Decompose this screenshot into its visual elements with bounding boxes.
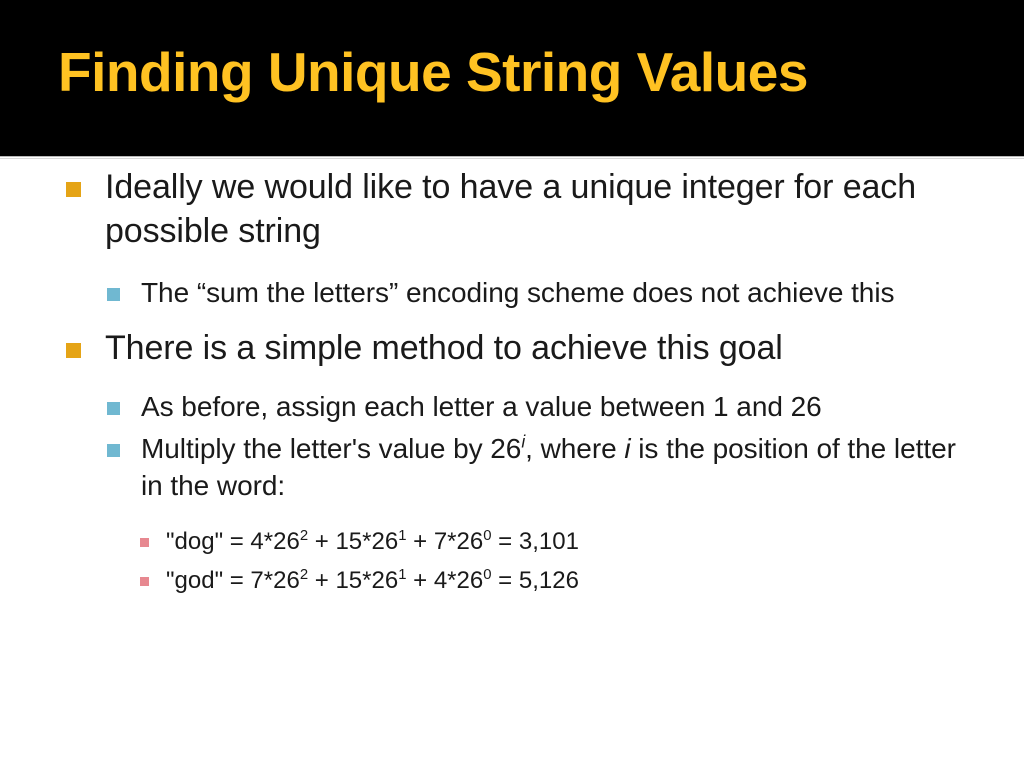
- dog-mid2: + 7*26: [406, 528, 483, 555]
- bullet-level2-text: The “sum the letters” encoding scheme do…: [141, 275, 970, 311]
- dog-superscript-2: 2: [300, 528, 308, 544]
- slide-title: Finding Unique String Values: [58, 44, 808, 102]
- bullet-level2-item: As before, assign each letter a value be…: [107, 389, 970, 425]
- bullet-square-icon: [107, 444, 120, 457]
- bullet-level3-item: "god" = 7*262 + 15*261 + 4*260 = 5,126: [140, 565, 970, 596]
- title-divider: [0, 156, 1024, 159]
- bullet-level3-text-god: "god" = 7*262 + 15*261 + 4*260 = 5,126: [166, 565, 970, 596]
- god-superscript-0: 0: [483, 567, 491, 583]
- bullet-level2-item: The “sum the letters” encoding scheme do…: [107, 275, 970, 311]
- bullet-square-icon: [107, 288, 120, 301]
- slide: Finding Unique String Values Ideally we …: [0, 0, 1024, 768]
- bullet-level2-item: Multiply the letter's value by 26i, wher…: [107, 431, 970, 504]
- dog-lead: "dog" = 4*26: [166, 528, 300, 555]
- bullet-level1-item: There is a simple method to achieve this…: [66, 327, 970, 371]
- bullet-square-icon: [107, 402, 120, 415]
- bullet-level2-text: As before, assign each letter a value be…: [141, 389, 970, 425]
- god-lead: "god" = 7*26: [166, 567, 300, 594]
- bullet-level2-text-formula: Multiply the letter's value by 26i, wher…: [141, 431, 970, 504]
- formula-part1: Multiply the letter's value by 26: [141, 433, 521, 464]
- spacer: [0, 313, 1024, 327]
- bullet-level1-text: There is a simple method to achieve this…: [105, 327, 970, 371]
- dog-superscript-0: 0: [483, 528, 491, 544]
- bullet-square-icon: [140, 538, 149, 547]
- dog-tail: = 3,101: [492, 528, 579, 555]
- spacer: [0, 373, 1024, 383]
- bullet-level3-item: "dog" = 4*262 + 15*261 + 7*260 = 3,101: [140, 526, 970, 557]
- spacer: [0, 506, 1024, 518]
- bullet-level3-text-dog: "dog" = 4*262 + 15*261 + 7*260 = 3,101: [166, 526, 970, 557]
- god-tail: = 5,126: [492, 567, 579, 594]
- bullet-square-icon: [140, 577, 149, 586]
- bullet-square-icon: [66, 343, 81, 358]
- god-superscript-2: 2: [300, 567, 308, 583]
- god-mid2: + 4*26: [406, 567, 483, 594]
- slide-body: Ideally we would like to have a unique i…: [0, 166, 1024, 768]
- formula-part2: , where: [525, 433, 624, 464]
- bullet-level1-item: Ideally we would like to have a unique i…: [66, 166, 970, 253]
- god-mid1: + 15*26: [308, 567, 398, 594]
- bullet-level1-text: Ideally we would like to have a unique i…: [105, 166, 970, 253]
- bullet-square-icon: [66, 182, 81, 197]
- dog-mid1: + 15*26: [308, 528, 398, 555]
- spacer: [0, 255, 1024, 269]
